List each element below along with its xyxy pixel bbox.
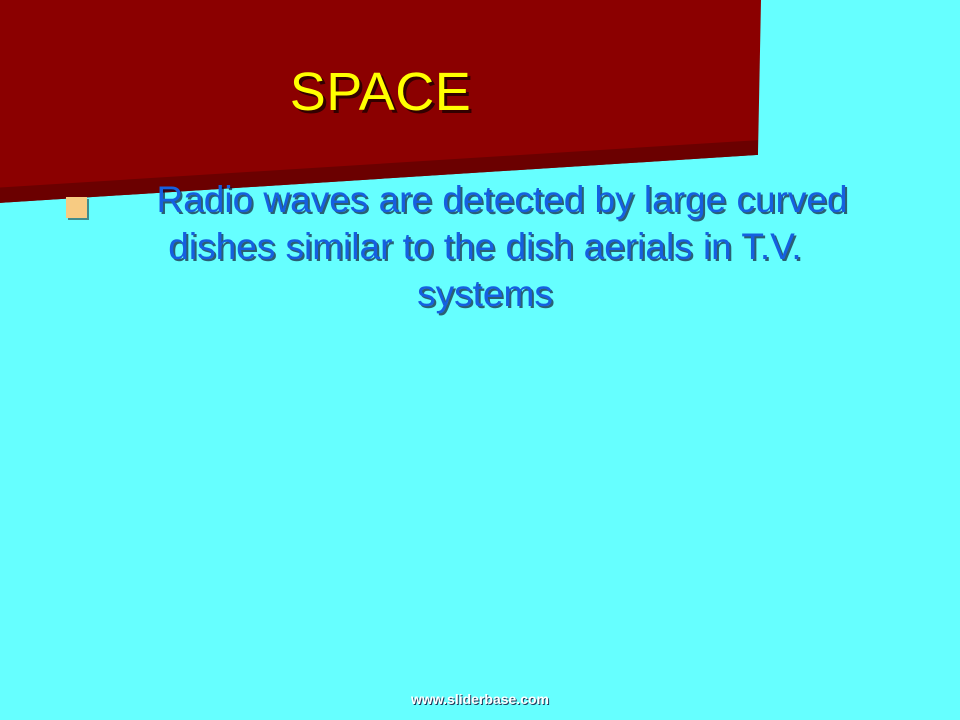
bullet-list-item: Radio waves are detected by large curved… <box>50 176 920 317</box>
body-line-3: systems <box>50 270 920 317</box>
footer-watermark: www.sliderbase.com <box>0 690 960 708</box>
square-bullet-icon <box>66 197 87 218</box>
slide-title: SPACE <box>0 60 761 124</box>
presentation-slide: SPACE Radio waves are detected by large … <box>0 0 960 720</box>
slide-body: Radio waves are detected by large curved… <box>50 176 920 317</box>
body-line-2: dishes similar to the dish aerials in T.… <box>50 223 920 270</box>
bullet-item-text: Radio waves are detected by large curved… <box>50 176 920 317</box>
body-line-1: Radio waves are detected by large curved <box>50 176 920 223</box>
